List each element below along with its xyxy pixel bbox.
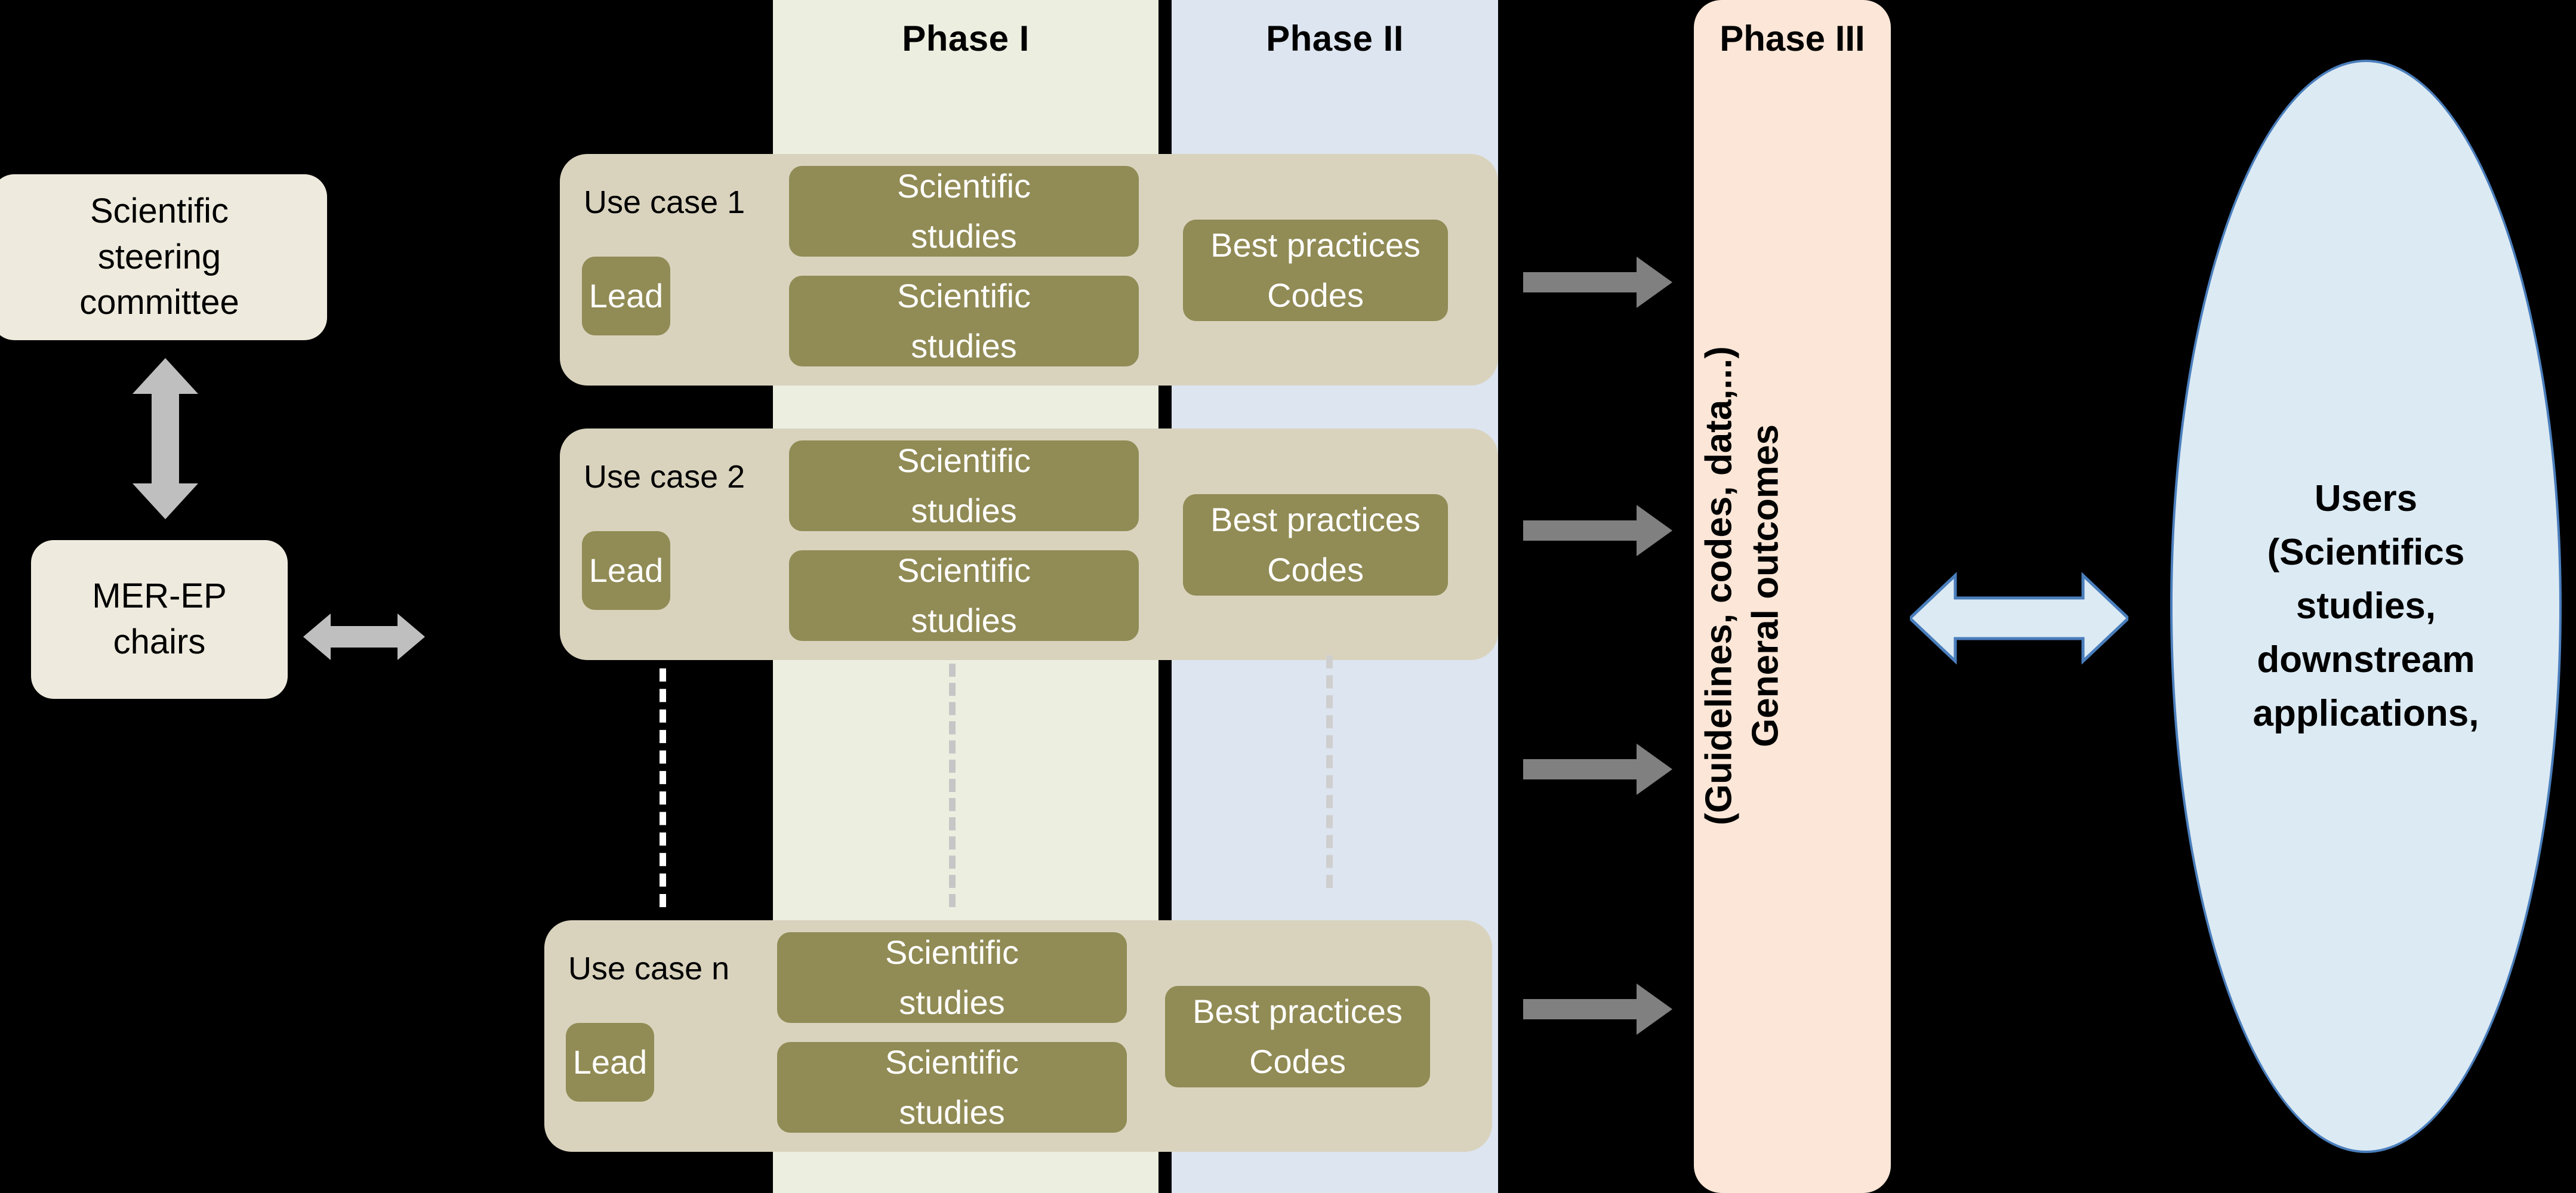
study-line-2: studies (899, 1087, 1004, 1137)
arrow-use-case-1-to-phase-3-icon (1523, 257, 1672, 308)
users-line-1: Users (2199, 472, 2533, 526)
best-practices-line-2: Codes (1249, 1037, 1346, 1087)
use-case-2-lead-box[interactable]: Lead (582, 531, 670, 610)
users-text-block: Users (Scientifics studies, downstream a… (2199, 472, 2533, 740)
ssc-line-1: Scientific (90, 189, 229, 235)
users-ellipse[interactable]: Users (Scientifics studies, downstream a… (2170, 60, 2562, 1153)
scientific-steering-committee-box[interactable]: Scientific steering committee (0, 174, 327, 340)
study-line-2: studies (911, 321, 1016, 371)
double-arrow-vertical-icon (127, 358, 204, 519)
use-case-2-study-2-box[interactable]: Scientific studies (789, 550, 1139, 641)
arrow-use-case-n-to-phase-3-icon (1523, 984, 1672, 1035)
ssc-line-3: committee (79, 280, 239, 326)
use-case-2-best-practices-box[interactable]: Best practices Codes (1183, 494, 1448, 596)
use-case-n-study-1-box[interactable]: Scientific studies (777, 932, 1127, 1023)
use-case-n-lead-box[interactable]: Lead (566, 1023, 654, 1102)
users-line-4: downstream (2199, 633, 2533, 687)
double-arrow-horizontal-icon (303, 609, 425, 665)
mer-ep-chairs-box[interactable]: MER-EP chairs (31, 540, 288, 699)
ssc-line-2: steering (98, 235, 221, 280)
study-line-1: Scientific (897, 271, 1031, 321)
use-case-1-label: Use case 1 (584, 184, 745, 221)
use-case-1-study-2-box[interactable]: Scientific studies (789, 276, 1139, 366)
phase-3-label: Phase III (1694, 18, 1891, 59)
chairs-line-1: MER-EP (92, 574, 227, 619)
continuation-dashes-phase-2 (1326, 655, 1333, 888)
study-line-2: studies (911, 596, 1016, 646)
arrow-continuation-to-phase-3-icon (1523, 744, 1672, 795)
study-line-1: Scientific (897, 436, 1031, 486)
study-line-1: Scientific (897, 161, 1031, 211)
best-practices-line-1: Best practices (1210, 495, 1421, 545)
users-line-2: (Scientifics (2199, 526, 2533, 579)
arrow-use-case-2-to-phase-3-icon (1523, 505, 1672, 556)
chairs-line-2: chairs (113, 619, 206, 665)
study-line-2: studies (911, 211, 1016, 261)
best-practices-line-2: Codes (1267, 270, 1364, 320)
use-case-n-label: Use case n (568, 950, 729, 987)
users-line-5: applications, (2199, 687, 2533, 741)
use-case-2-label: Use case 2 (584, 458, 745, 495)
study-line-1: Scientific (885, 927, 1019, 978)
double-arrow-phase3-to-users-icon (1910, 567, 2128, 670)
study-line-1: Scientific (897, 545, 1031, 596)
study-line-2: studies (911, 486, 1016, 536)
diagram-canvas: Phase I Phase II Scientific steering com… (0, 0, 2576, 1193)
study-line-1: Scientific (885, 1037, 1019, 1087)
best-practices-line-1: Best practices (1193, 987, 1403, 1037)
continuation-dashes-phase-1 (949, 664, 956, 907)
use-case-1-lead-box[interactable]: Lead (582, 257, 670, 335)
phase-2-label: Phase II (1172, 18, 1498, 59)
use-case-2-study-1-box[interactable]: Scientific studies (789, 440, 1139, 531)
phase-3-outcome-line-1: General outcomes (1745, 317, 1787, 855)
best-practices-line-1: Best practices (1210, 220, 1421, 270)
continuation-dashes-left (660, 668, 666, 907)
use-case-n-study-2-box[interactable]: Scientific studies (777, 1042, 1127, 1133)
use-case-1-best-practices-box[interactable]: Best practices Codes (1183, 220, 1448, 321)
best-practices-line-2: Codes (1267, 545, 1364, 595)
phase-1-label: Phase I (773, 18, 1158, 59)
phase-3-outcome-line-2: (Guidelines, codes, data,...) (1698, 317, 1740, 855)
users-line-3: studies, (2199, 579, 2533, 633)
use-case-n-best-practices-box[interactable]: Best practices Codes (1165, 986, 1430, 1087)
use-case-1-study-1-box[interactable]: Scientific studies (789, 166, 1139, 257)
study-line-2: studies (899, 978, 1004, 1028)
